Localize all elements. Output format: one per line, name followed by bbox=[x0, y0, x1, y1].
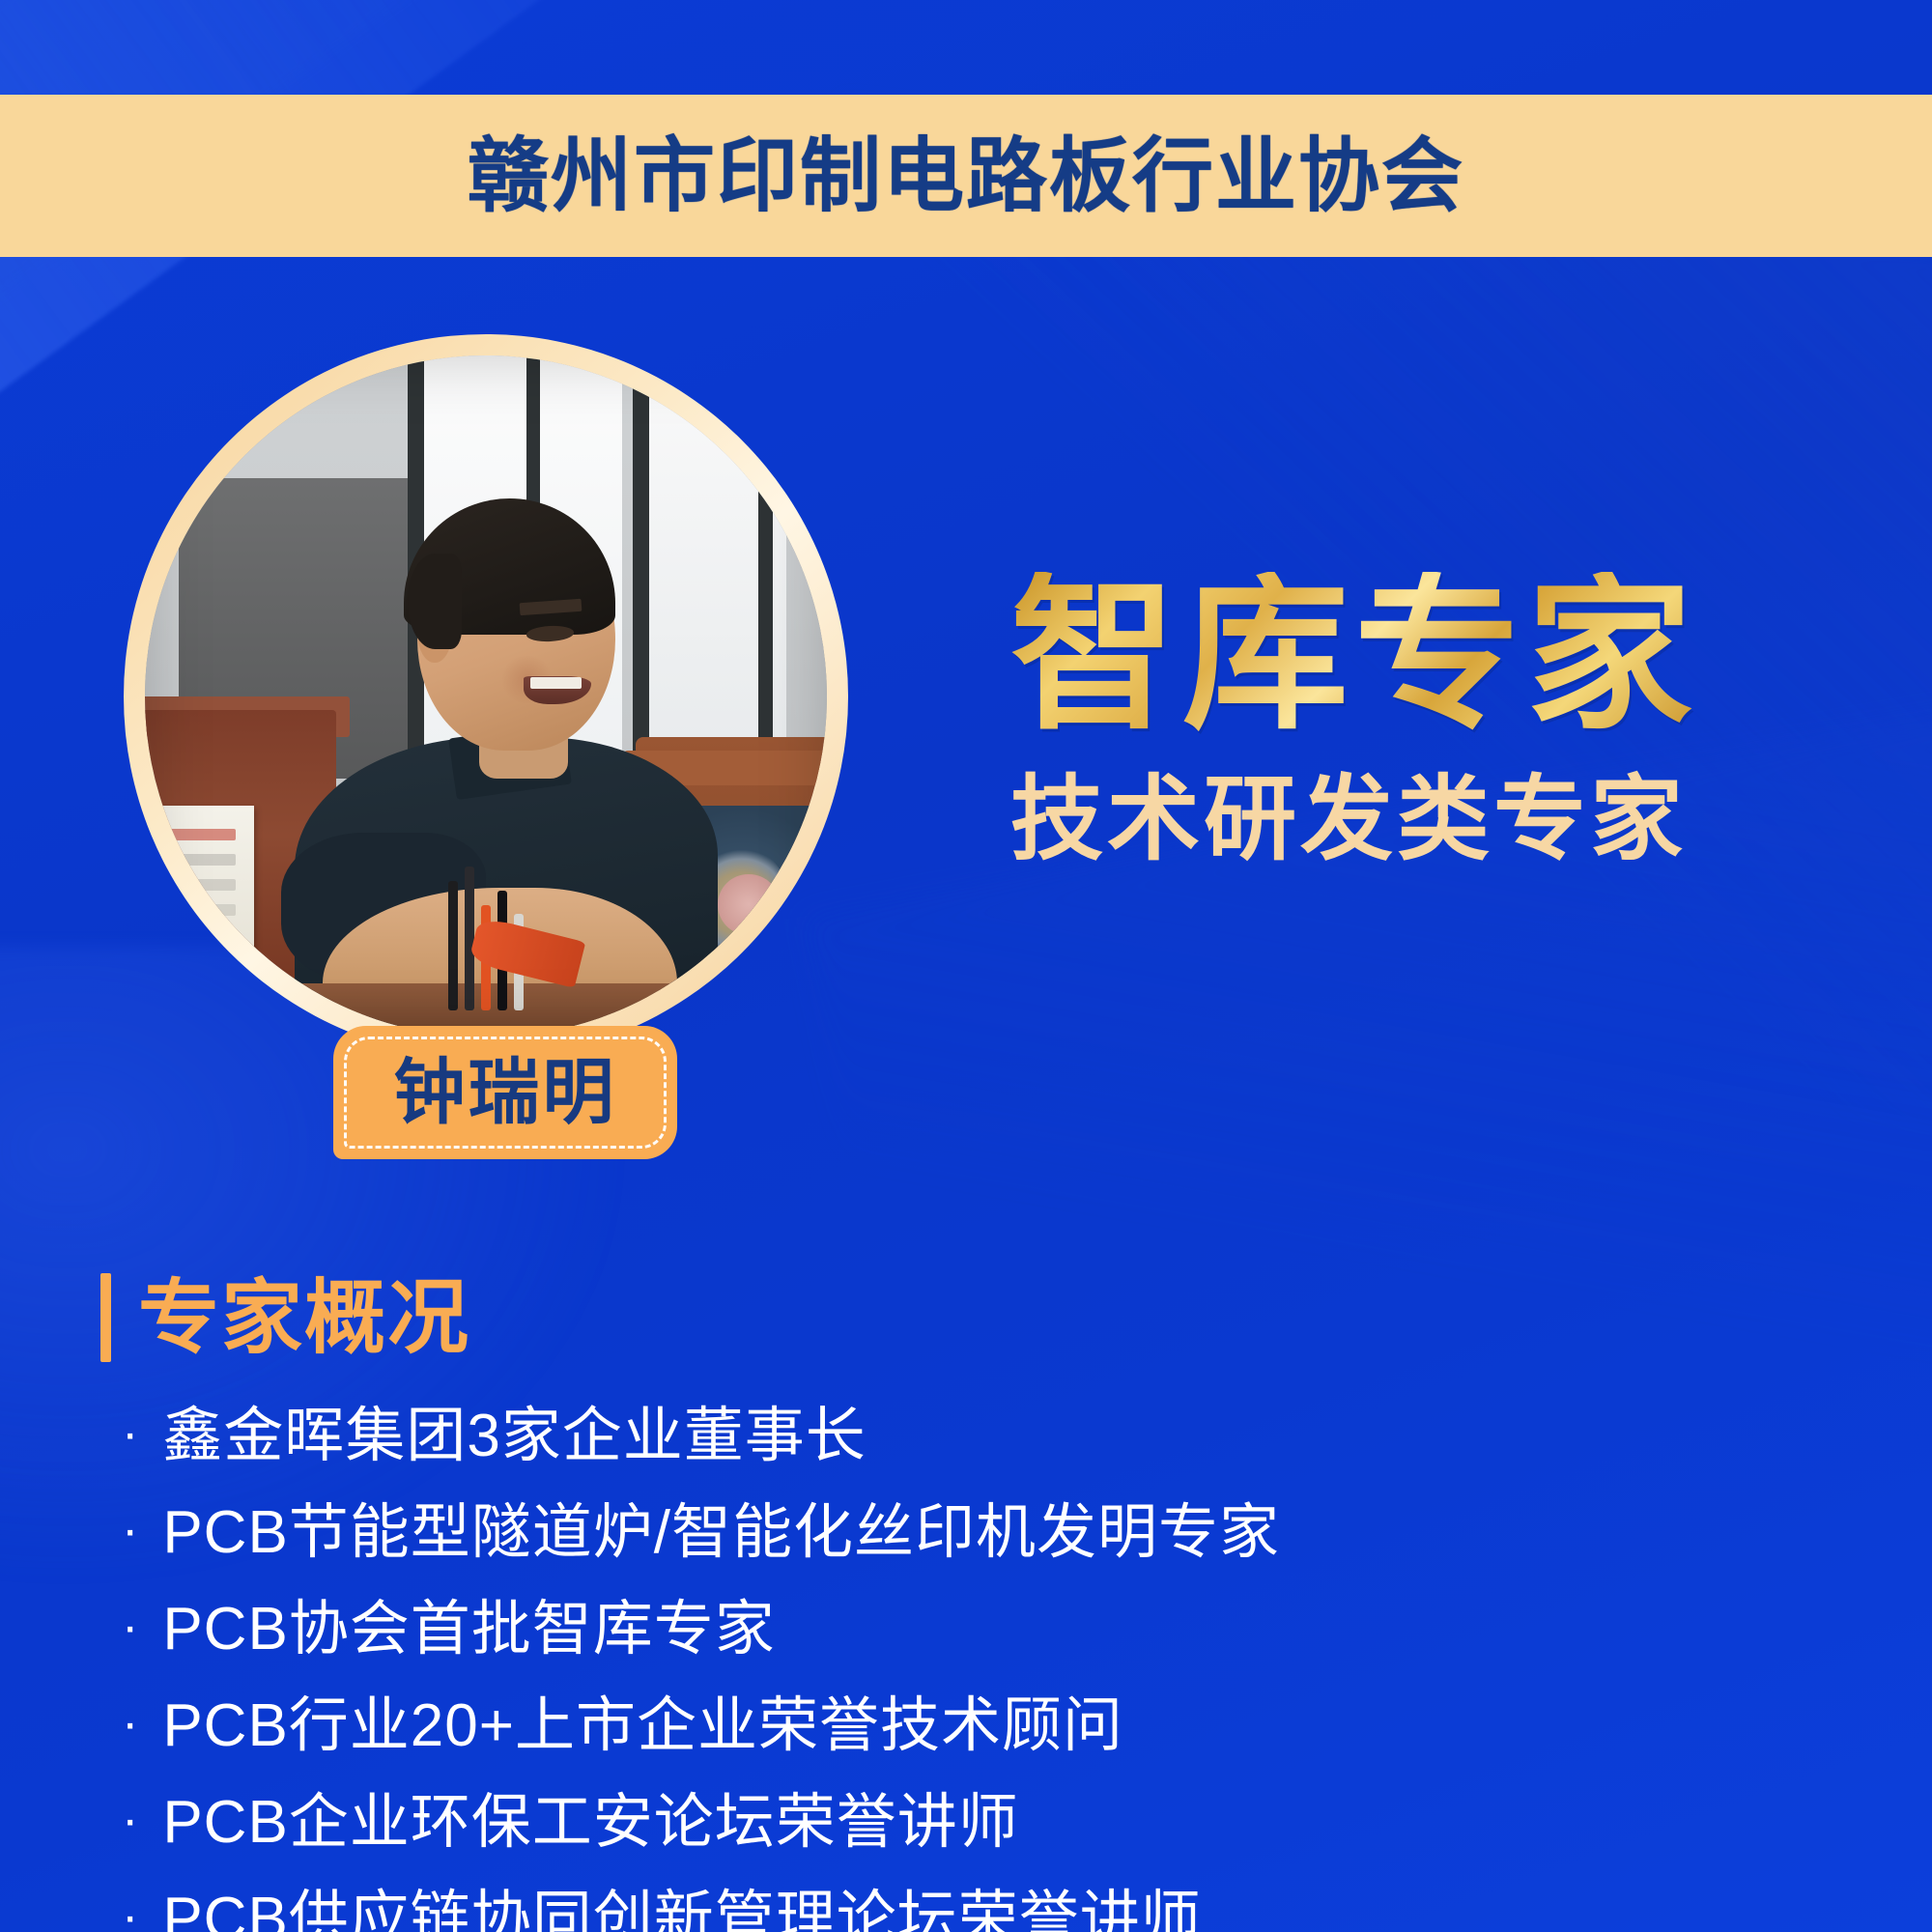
list-item-label: PCB节能型隧道炉/智能化丝印机发明专家 bbox=[162, 1503, 1280, 1563]
portrait-container bbox=[124, 334, 848, 1059]
list-item: · PCB企业环保工安论坛荣誉讲师 bbox=[122, 1793, 1839, 1853]
expert-name-tag: 钟瑞明 bbox=[333, 1026, 677, 1159]
list-item: · PCB行业20+上市企业荣誉技术顾问 bbox=[122, 1696, 1839, 1756]
scene-paper-stack bbox=[152, 806, 254, 997]
scene-pen bbox=[448, 881, 458, 1010]
bullet-dot-icon: · bbox=[122, 1408, 139, 1459]
scene-person-sideburn bbox=[408, 554, 462, 649]
list-item: · PCB协会首批智库专家 bbox=[122, 1600, 1839, 1660]
profile-bullet-list: · 鑫金晖集团3家企业董事长 · PCB节能型隧道炉/智能化丝印机发明专家 · … bbox=[100, 1406, 1839, 1932]
list-item-label: PCB协会首批智库专家 bbox=[162, 1600, 775, 1660]
scene-pen bbox=[465, 867, 474, 1010]
header-band: 赣州市印制电路板行业协会 bbox=[0, 95, 1932, 257]
sub-title: 技术研发类专家 bbox=[1010, 774, 1698, 867]
scene-cushion-flower bbox=[718, 874, 780, 936]
profile-section: 专家概况 · 鑫金晖集团3家企业董事长 · PCB节能型隧道炉/智能化丝印机发明… bbox=[100, 1273, 1839, 1932]
portrait-gold-ring bbox=[124, 334, 848, 1059]
profile-section-header: 专家概况 bbox=[100, 1273, 1839, 1362]
list-item: · PCB节能型隧道炉/智能化丝印机发明专家 bbox=[122, 1503, 1839, 1563]
bullet-dot-icon: · bbox=[122, 1698, 139, 1748]
association-title: 赣州市印制电路板行业协会 bbox=[468, 135, 1464, 216]
list-item-label: PCB行业20+上市企业荣誉技术顾问 bbox=[162, 1696, 1123, 1756]
expert-profile-poster: 赣州市印制电路板行业协会 bbox=[0, 0, 1932, 1932]
list-item-label: PCB企业环保工安论坛荣誉讲师 bbox=[162, 1793, 1018, 1853]
scene-person-teeth bbox=[530, 677, 582, 688]
portrait-scene bbox=[145, 355, 827, 1037]
bullet-dot-icon: · bbox=[122, 1602, 139, 1652]
profile-section-title: 专家概况 bbox=[138, 1277, 470, 1358]
list-item: · 鑫金晖集团3家企业董事长 bbox=[122, 1406, 1839, 1466]
list-item-label: PCB供应链协同创新管理论坛荣誉讲师 bbox=[162, 1889, 1201, 1932]
expert-name: 钟瑞明 bbox=[394, 1057, 617, 1128]
bullet-dot-icon: · bbox=[122, 1795, 139, 1845]
main-title: 智库专家 bbox=[1010, 572, 1698, 741]
section-accent-bar-icon bbox=[100, 1273, 111, 1362]
title-block: 智库专家 技术研发类专家 bbox=[1010, 572, 1698, 867]
portrait-photo bbox=[145, 355, 827, 1037]
list-item-label: 鑫金晖集团3家企业董事长 bbox=[162, 1406, 866, 1466]
list-item: · PCB供应链协同创新管理论坛荣誉讲师 bbox=[122, 1889, 1839, 1932]
bullet-dot-icon: · bbox=[122, 1505, 139, 1555]
bullet-dot-icon: · bbox=[122, 1891, 139, 1932]
